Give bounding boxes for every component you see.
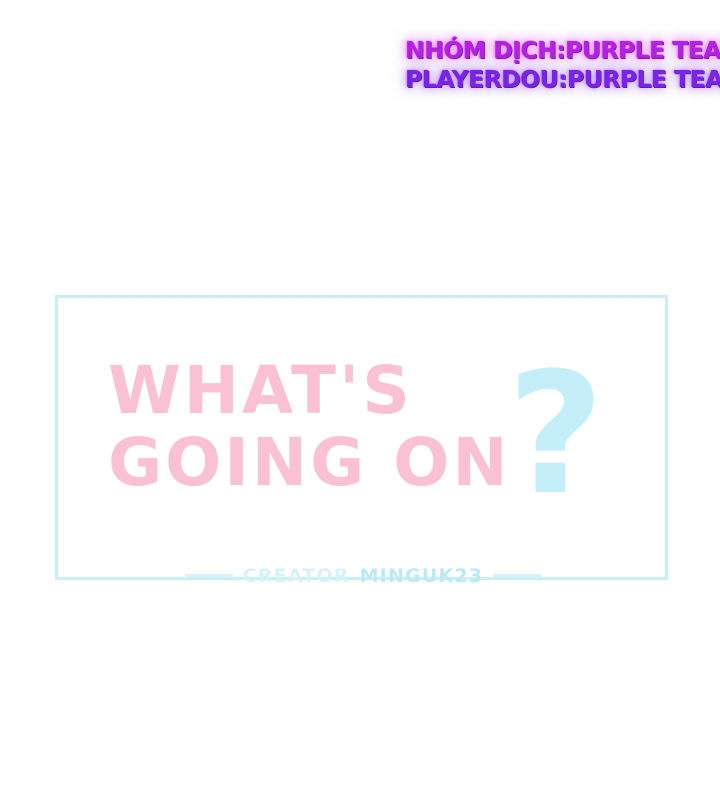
- translator-watermark: NHÓM DỊCH:PURPLE TEAM PLAYERDOU:PURPLE T…: [408, 38, 708, 93]
- watermark-line-player: PLAYERDOU:PURPLE TEAM: [405, 67, 711, 93]
- comic-title-page: NHÓM DỊCH:PURPLE TEAM PLAYERDOU:PURPLE T…: [0, 0, 720, 804]
- title-block: WHAT'S GOING ON ?: [108, 358, 628, 523]
- credit-rule-left: [185, 574, 233, 578]
- watermark-line-translation-group: NHÓM DỊCH:PURPLE TEAM: [405, 38, 711, 64]
- credit-author-name: MINGUK23: [360, 565, 484, 587]
- credit-rule-right: [493, 574, 541, 578]
- creator-credit: CREATOR MINGUK23: [185, 565, 541, 587]
- question-mark-glyph: ?: [507, 350, 604, 518]
- credit-label: CREATOR: [243, 565, 350, 587]
